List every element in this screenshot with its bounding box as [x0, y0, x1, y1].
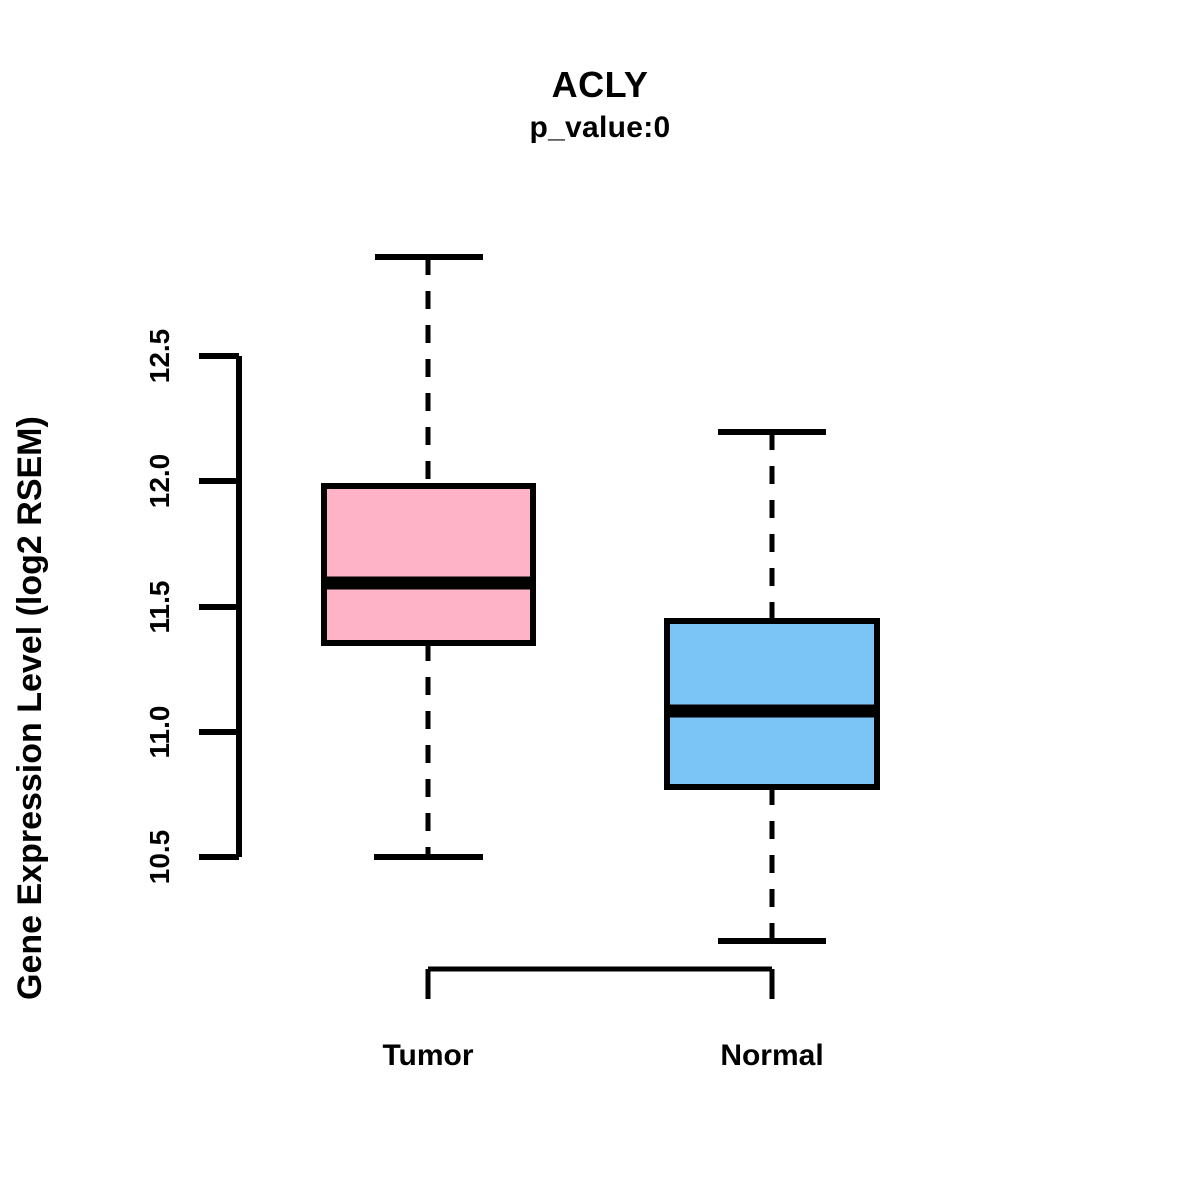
normal-box-rect[interactable]: [667, 621, 877, 787]
boxplot-figure: ACLY p_value:0 Gene Expression Level (lo…: [0, 0, 1200, 1200]
box-normal[interactable]: [664, 432, 880, 941]
tumor-box-rect[interactable]: [324, 486, 533, 643]
plot-canvas: [0, 0, 1200, 1200]
box-tumor[interactable]: [321, 257, 536, 857]
x-axis: [428, 969, 772, 999]
y-axis: [199, 356, 239, 857]
